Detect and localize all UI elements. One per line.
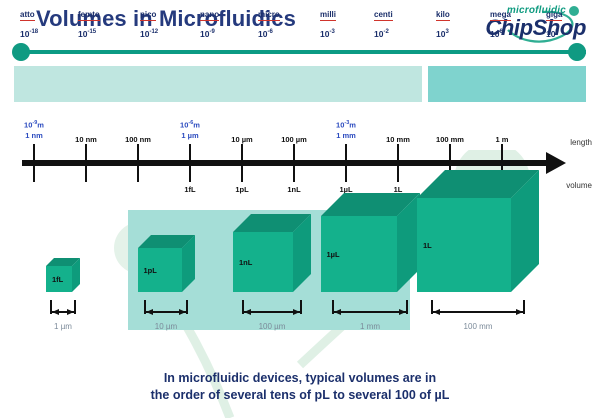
page-title: Volumes in Microfluidics <box>36 6 296 32</box>
prefix-table-small-scale <box>14 66 422 102</box>
axis-highlight-label-6: 10-3m1 mm <box>336 118 356 141</box>
prefix-exponent: 10-15 <box>78 27 100 39</box>
axis-tick-1 <box>85 144 87 182</box>
prefix-cell-kilo: kilo103 <box>436 4 450 39</box>
volume-cube-1L <box>417 170 539 297</box>
prefix-name: pico <box>140 10 156 21</box>
cube-measure-bracket-1nL <box>242 300 302 323</box>
axis-tick-3 <box>189 144 191 182</box>
prefix-exponent: 10-2 <box>374 27 393 39</box>
cube-series-group: 1fL1pL1nL1µL1L <box>0 200 600 340</box>
cube-volume-label-1nL: 1nL <box>239 258 252 267</box>
axis-tick-4 <box>241 144 243 182</box>
axis-length-label-1: 10 nm <box>75 135 97 144</box>
prefix-exponent: 10-18 <box>20 27 38 39</box>
axis-highlight-label-0: 10-9m1 nm <box>24 118 44 141</box>
prefix-cell-milli: milli10-3 <box>320 4 336 39</box>
rule-endcap-right <box>568 43 586 61</box>
prefix-name: kilo <box>436 10 450 21</box>
axis-tick-0 <box>33 144 35 182</box>
scale-axis-arrowhead-icon <box>546 152 566 174</box>
prefix-name: femto <box>78 10 100 21</box>
prefix-cell-nano: nano10-9 <box>200 4 219 39</box>
rule-endcap-left <box>12 43 30 61</box>
cube-volume-label-1µL: 1µL <box>327 250 340 259</box>
cube-volume-label-1L: 1L <box>423 241 432 250</box>
caption-line-2: the order of several tens of pL to sever… <box>0 387 600 404</box>
cube-volume-label-1fL: 1fL <box>52 275 63 284</box>
prefix-table-large-scale <box>428 66 586 102</box>
axis-volume-label-2: 1nL <box>287 185 300 194</box>
prefix-exponent: 103 <box>436 27 450 39</box>
cube-dimension-label-100-mm: 100 mm <box>464 322 493 331</box>
caption-line-1: In microfluidic devices, typical volumes… <box>0 370 600 387</box>
prefix-exponent: 106 <box>490 27 511 39</box>
header-divider-rule <box>14 50 586 54</box>
prefix-exponent: 10-6 <box>258 27 280 39</box>
cube-dimension-label-10-µm: 10 µm <box>155 322 177 331</box>
axis-caption-volume: volume <box>566 181 592 190</box>
prefix-name: atto <box>20 10 35 21</box>
axis-tick-6 <box>345 144 347 182</box>
infographic-canvas: Volumes in Microfluidics microfluidic Ch… <box>0 0 600 418</box>
axis-length-label-7: 10 mm <box>386 135 410 144</box>
axis-highlight-label-3: 10-6m1 µm <box>180 118 200 141</box>
prefix-cell-femto: femto10-15 <box>78 4 100 39</box>
prefix-cell-centi: centi10-2 <box>374 4 393 39</box>
cube-dimension-label-100-µm: 100 µm <box>259 322 286 331</box>
prefix-cell-mega: mega106 <box>490 4 511 39</box>
prefix-cell-atto: atto10-18 <box>20 4 38 39</box>
cube-measure-bracket-1pL <box>144 300 188 323</box>
cube-measure-bracket-1fL <box>50 300 76 323</box>
cube-volume-label-1pL: 1pL <box>144 266 157 275</box>
prefix-exponent: 10-3 <box>320 27 336 39</box>
axis-volume-label-1: 1pL <box>235 185 248 194</box>
cube-measure-bracket-1L <box>431 300 525 323</box>
summary-caption: In microfluidic devices, typical volumes… <box>0 370 600 404</box>
prefix-name: giga <box>546 10 562 21</box>
scale-axis-line <box>22 160 548 166</box>
axis-caption-length: length <box>570 138 592 147</box>
prefix-cell-giga: giga109 <box>546 4 562 39</box>
prefix-exponent: 10-9 <box>200 27 219 39</box>
volume-cube-1µL <box>321 193 420 297</box>
volume-cube-1nL <box>233 214 311 297</box>
axis-volume-label-0: 1fL <box>184 185 195 194</box>
axis-tick-5 <box>293 144 295 182</box>
axis-length-label-9: 1 m <box>496 135 509 144</box>
prefix-cell-micro: micro10-6 <box>258 4 280 39</box>
prefix-cell-pico: pico10-12 <box>140 4 158 39</box>
cube-measure-bracket-1µL <box>332 300 408 323</box>
prefix-name: mega <box>490 10 511 21</box>
prefix-name: centi <box>374 10 393 21</box>
cube-dimension-label-1-mm: 1 mm <box>360 322 380 331</box>
axis-tick-7 <box>397 144 399 182</box>
prefix-exponent: 109 <box>546 27 562 39</box>
axis-length-label-5: 100 µm <box>281 135 307 144</box>
axis-length-label-8: 100 mm <box>436 135 464 144</box>
cube-dimension-label-1-µm: 1 µm <box>54 322 72 331</box>
prefix-name: micro <box>258 10 280 21</box>
prefix-name: milli <box>320 10 336 21</box>
axis-length-label-2: 100 nm <box>125 135 151 144</box>
prefix-exponent: 10-12 <box>140 27 158 39</box>
axis-length-label-4: 10 µm <box>231 135 252 144</box>
axis-tick-2 <box>137 144 139 182</box>
prefix-name: nano <box>200 10 219 21</box>
